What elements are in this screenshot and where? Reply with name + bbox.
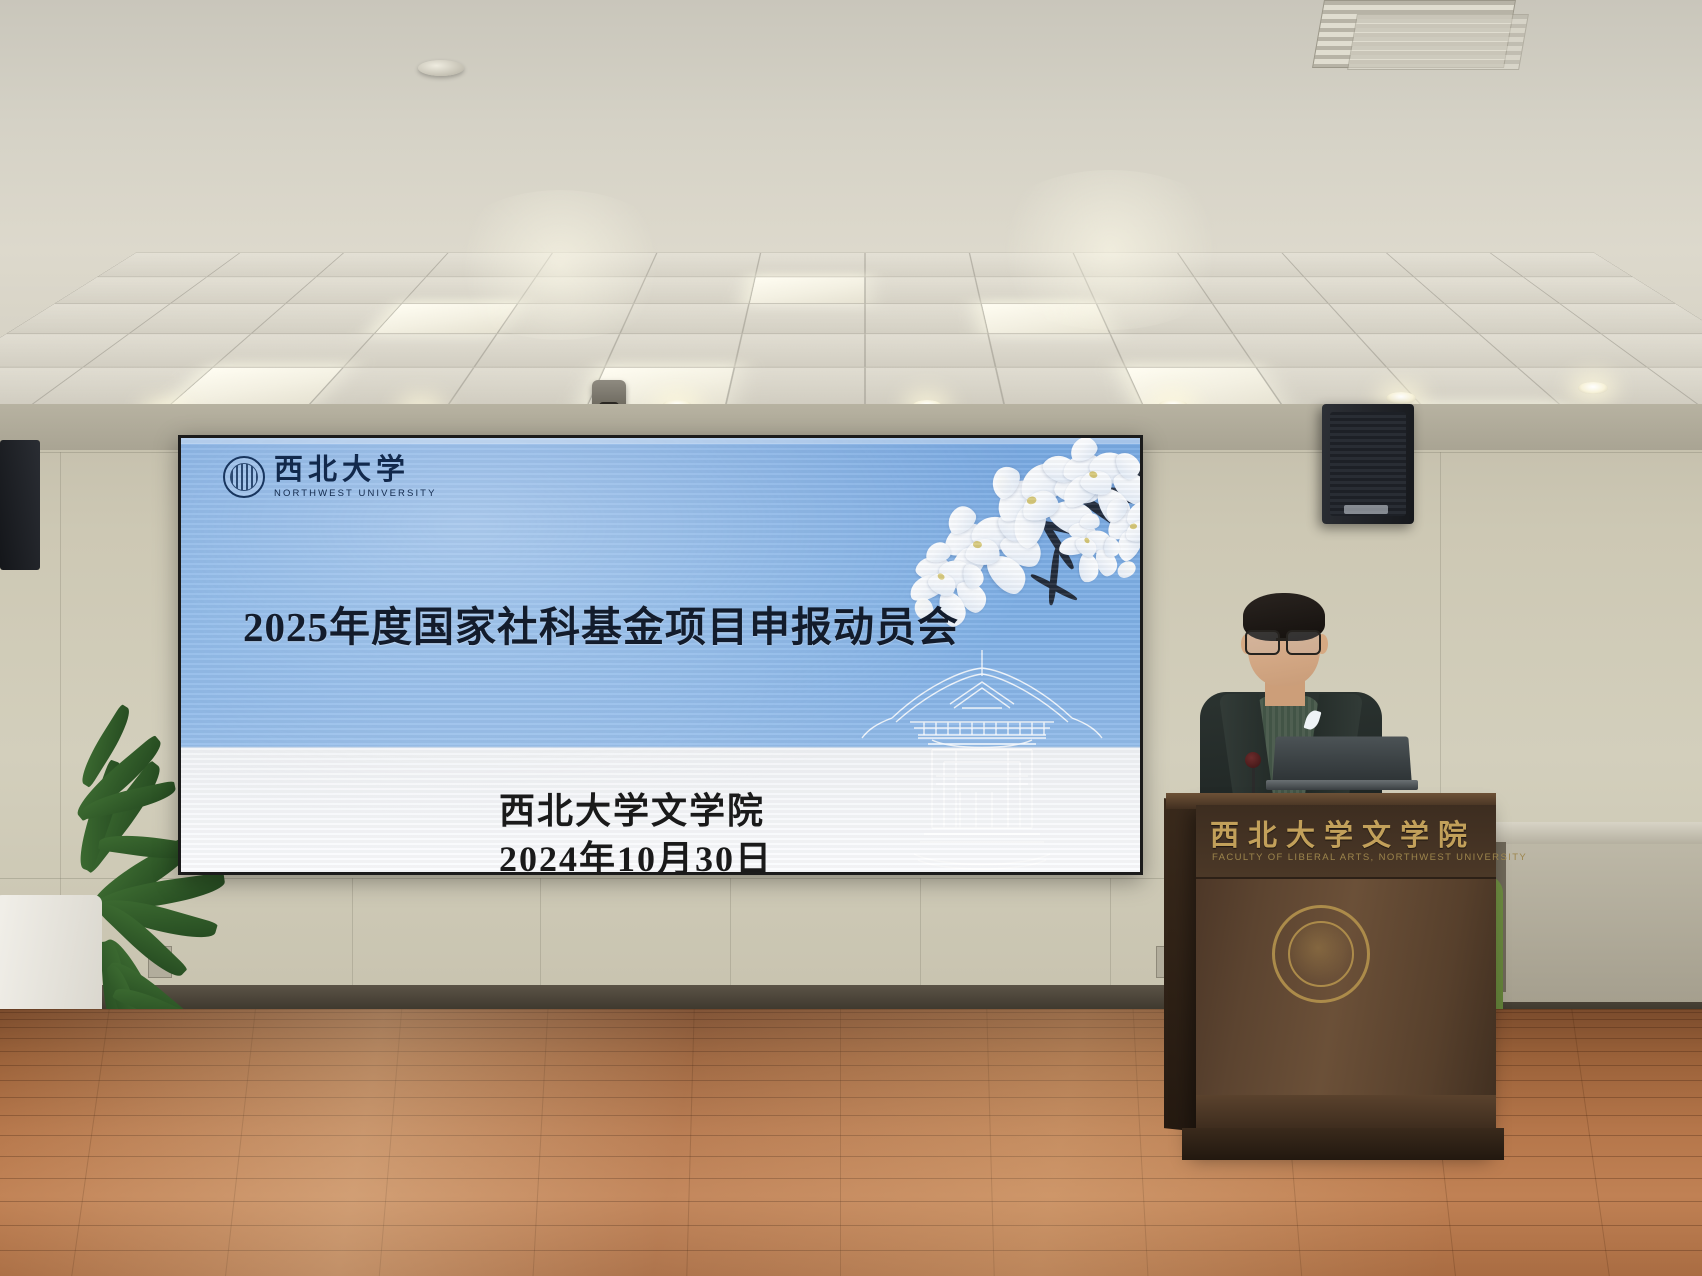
laptop-screen[interactable] [1272,737,1412,783]
lecture-hall-scene: 西北大学 NORTHWEST UNIVERSITY 2025年度国家社科基金项目… [0,0,1702,1276]
slide-subtitle-org: 西北大学文学院 [499,788,773,836]
podium-side [1164,798,1200,1132]
side-cabinet [1486,842,1702,1002]
podium-foot [1182,1128,1504,1160]
podium-emblem-inner [1288,921,1354,987]
smoke-detector-icon [418,60,464,76]
logo-chinese-name: 西北大学 [274,456,437,485]
microphone-icon[interactable] [1245,752,1261,768]
slide-subtitle-date: 2024年10月30日 [499,836,773,872]
slide-canvas: 西北大学 NORTHWEST UNIVERSITY 2025年度国家社科基金项目… [181,438,1140,872]
university-logo: 西北大学 NORTHWEST UNIVERSITY [223,456,437,499]
eyeglasses-icon [1245,630,1327,652]
podium-emblem-icon [1272,905,1370,1003]
ceiling-tile-grid [0,253,1702,418]
screen-top-highlight [181,438,1140,444]
podium-chinese-text: 西北大学文学院 [1210,812,1490,854]
seal-inner [230,463,258,491]
side-desk-top [1486,822,1702,844]
university-seal-icon [223,456,265,498]
slide-subtitle-block: 西北大学文学院 2024年10月30日 [499,788,773,872]
wall-loudspeaker-icon [0,440,40,570]
slide-title: 2025年度国家社科基金项目申报动员会 [243,593,959,653]
projection-screen[interactable]: 西北大学 NORTHWEST UNIVERSITY 2025年度国家社科基金项目… [178,435,1143,875]
podium-plinth [1196,1095,1496,1131]
speaker-brand-logo [1344,505,1388,514]
logo-english-name: NORTHWEST UNIVERSITY [274,489,437,499]
air-vent-icon [1347,14,1529,70]
laptop-base[interactable] [1266,780,1418,790]
podium-english-text: FACULTY OF LIBERAL ARTS, NORTHWEST UNIVE… [1212,852,1498,863]
ceiling-downlight [1578,382,1608,394]
wall-loudspeaker-icon [1322,404,1414,524]
logo-text-block: 西北大学 NORTHWEST UNIVERSITY [274,456,437,499]
speaker-grill [1330,412,1406,516]
ceiling-downlight [1386,392,1416,404]
